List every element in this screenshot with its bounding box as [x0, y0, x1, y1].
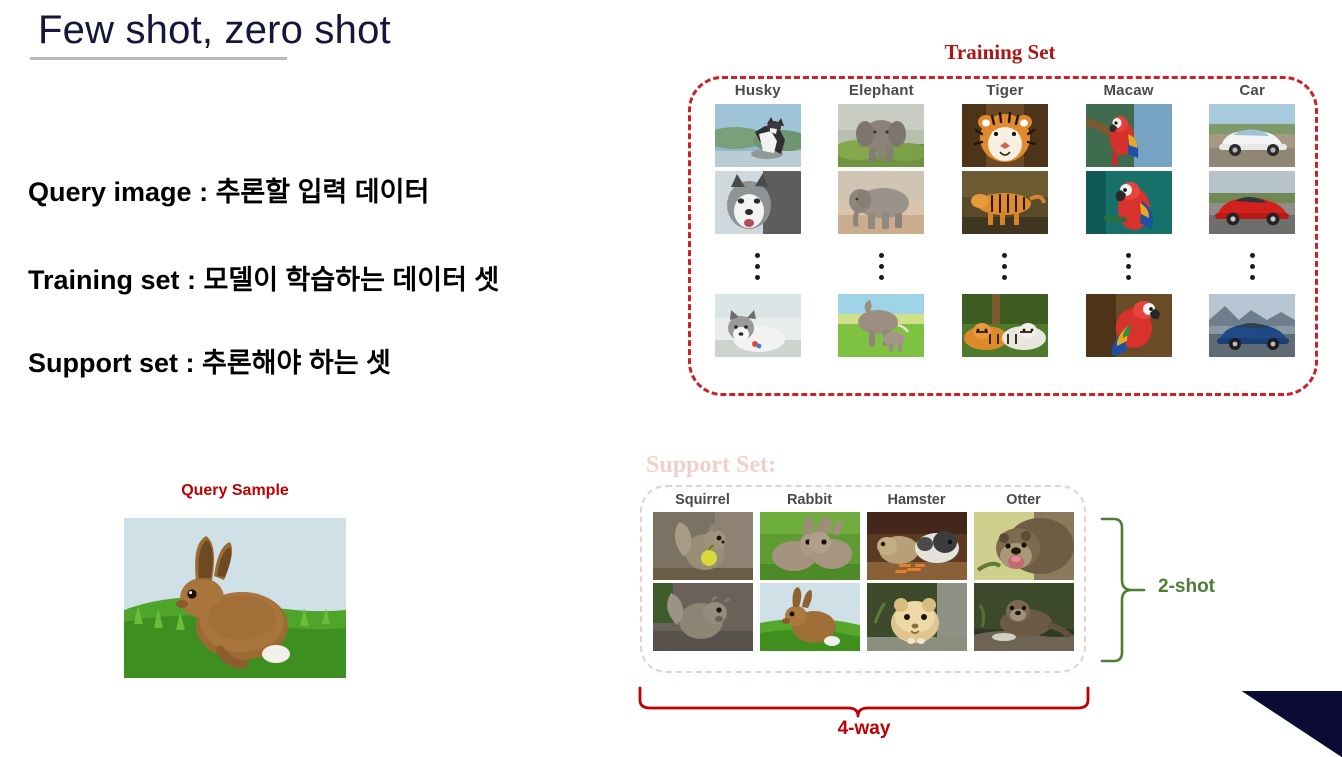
bullet-line-support-set: Support set : 추론해야 하는 셋	[28, 341, 391, 380]
support-column-otter: Otter	[973, 492, 1074, 668]
training-column-tiger: Tiger	[947, 82, 1063, 390]
four-way-label: 4-way	[636, 718, 1092, 740]
support-column-rabbit: Rabbit	[759, 492, 860, 668]
support-column-label: Rabbit	[787, 492, 832, 508]
vertical-ellipsis-icon	[879, 238, 884, 294]
training-column-label: Macaw	[1103, 82, 1153, 99]
macaw-branch-photo	[1086, 104, 1172, 167]
training-column-label: Tiger	[986, 82, 1023, 99]
training-column-label: Husky	[735, 82, 781, 99]
two-shot-brace-icon	[1098, 516, 1148, 664]
title-underline	[30, 57, 287, 60]
support-column-label: Hamster	[887, 492, 945, 508]
bullet-line-training-set: Training set : 모델이 학습하는 데이터 셋	[28, 258, 499, 297]
tiger-face-photo	[962, 104, 1048, 167]
tiger-walking-photo	[962, 171, 1048, 234]
four-way-brace-icon	[636, 684, 1092, 720]
query-sample-title: Query Sample	[145, 482, 325, 500]
support-column-hamster: Hamster	[866, 492, 967, 668]
rabbit-on-grass-photo	[760, 583, 860, 651]
hamster-closeup-photo	[867, 583, 967, 651]
red-sports-car-photo	[1209, 171, 1295, 234]
page-title: Few shot, zero shot	[38, 8, 391, 53]
vertical-ellipsis-icon	[755, 238, 760, 294]
white-sedan-photo	[1209, 104, 1295, 167]
training-set-grid: Husky	[700, 82, 1310, 390]
husky-face-photo	[715, 171, 801, 234]
elephant-grass-photo	[838, 104, 924, 167]
vertical-ellipsis-icon	[1126, 238, 1131, 294]
husky-standing-photo	[715, 104, 801, 167]
training-column-elephant: Elephant	[824, 82, 940, 390]
bullet-line-query-image: Query image : 추론할 입력 데이터	[28, 170, 429, 209]
two-tigers-photo	[962, 294, 1048, 357]
otter-yawning-photo	[974, 512, 1074, 580]
vertical-ellipsis-icon	[1250, 238, 1255, 294]
two-guinea-pigs-photo	[867, 512, 967, 580]
macaw-perched-photo	[1086, 171, 1172, 234]
husky-puppy-photo	[715, 294, 801, 357]
training-set-title: Training Set	[905, 40, 1095, 65]
vertical-ellipsis-icon	[1002, 238, 1007, 294]
corner-triangle-decoration	[1242, 691, 1342, 757]
two-shot-label: 2-shot	[1158, 576, 1215, 598]
support-column-label: Squirrel	[675, 492, 730, 508]
rabbit-on-grass-photo	[124, 518, 346, 678]
squirrel-with-apple-photo	[653, 512, 753, 580]
support-set-grid: Squirrel	[652, 492, 1074, 668]
elephant-with-calf-photo	[838, 294, 924, 357]
two-rabbits-photo	[760, 512, 860, 580]
elephant-side-photo	[838, 171, 924, 234]
squirrel-on-log-photo	[653, 583, 753, 651]
training-column-car: Car	[1194, 82, 1310, 390]
training-column-label: Elephant	[849, 82, 914, 99]
macaw-rock-photo	[1086, 294, 1172, 357]
otter-standing-photo	[974, 583, 1074, 651]
support-set-title: Support Set:	[646, 452, 776, 479]
support-column-label: Otter	[1006, 492, 1041, 508]
training-column-label: Car	[1239, 82, 1265, 99]
training-column-husky: Husky	[700, 82, 816, 390]
support-column-squirrel: Squirrel	[652, 492, 753, 668]
blue-sports-car-photo	[1209, 294, 1295, 357]
training-column-macaw: Macaw	[1071, 82, 1187, 390]
